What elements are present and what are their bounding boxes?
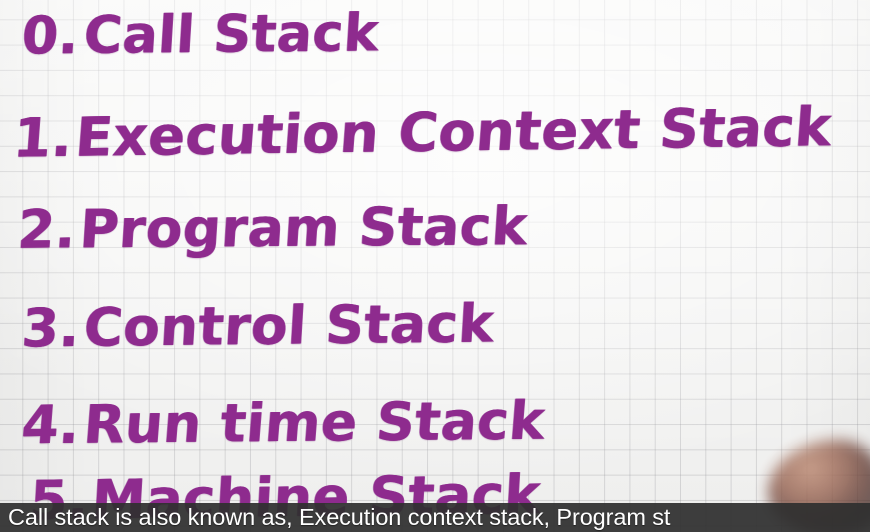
note-line-4-index: 4. <box>19 395 86 457</box>
note-line-4-text: Run time Stack <box>81 391 547 456</box>
note-line-1-index: 1. <box>11 106 78 170</box>
note-line-0-text: Call Stack <box>82 3 381 66</box>
note-line-1-text: Execution Context Stack <box>73 95 834 169</box>
note-line-0: 0.Call Stack <box>20 3 381 66</box>
note-line-4: 4.Run time Stack <box>19 391 547 457</box>
caption-text: Call stack is also known as, Execution c… <box>0 503 670 532</box>
note-line-2-text: Program Stack <box>78 196 529 260</box>
note-line-3-text: Control Stack <box>82 294 496 359</box>
caption-bar: Call stack is also known as, Execution c… <box>0 503 870 532</box>
note-line-3: 3.Control Stack <box>20 294 496 360</box>
note-line-0-index: 0. <box>20 6 86 67</box>
note-line-2-index: 2. <box>16 199 82 260</box>
note-line-1: 1.Execution Context Stack <box>11 95 834 169</box>
note-line-3-index: 3. <box>20 298 86 360</box>
lecture-slide-screenshot: 0.Call Stack 1.Execution Context Stack 2… <box>0 0 870 532</box>
note-line-2: 2.Program Stack <box>16 196 529 261</box>
handwritten-notes-area: 0.Call Stack 1.Execution Context Stack 2… <box>0 0 870 532</box>
